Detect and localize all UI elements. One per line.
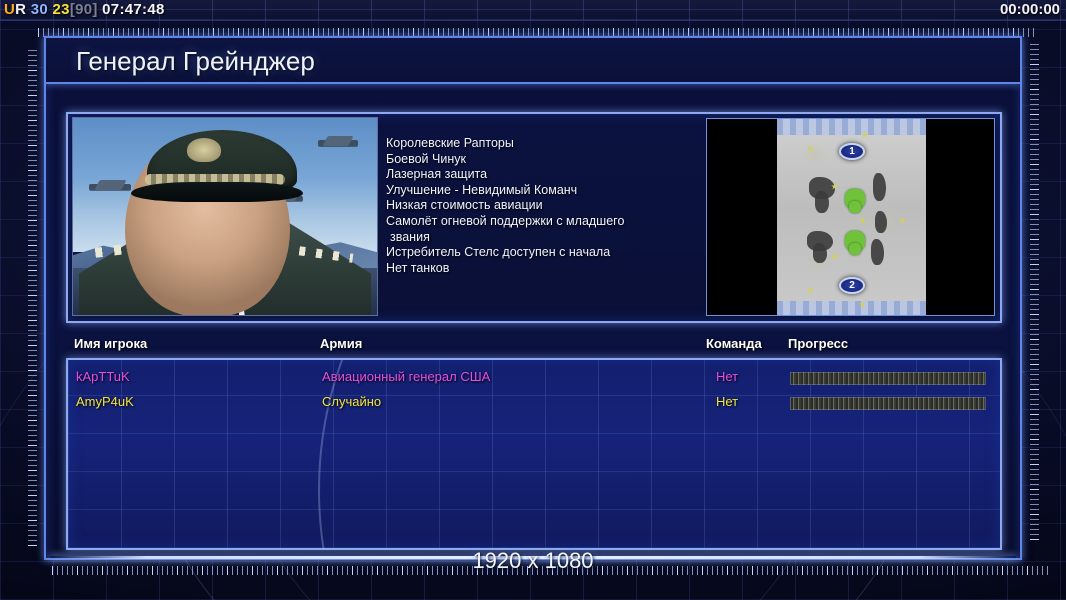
portrait-face — [125, 136, 290, 315]
player-name: kApTTuK — [76, 369, 130, 384]
ability-item-continued: звания — [386, 230, 714, 246]
status-clock: 07:47:48 — [102, 1, 164, 18]
aircraft-icon — [318, 140, 358, 146]
frame-body: U.S. Королевские Рапторы Боевой Чинук Ла… — [46, 86, 1020, 562]
main-frame: Генерал Грейнджер U.S. — [44, 36, 1022, 560]
aircraft-icon — [89, 184, 131, 190]
minimap-rock — [813, 243, 827, 263]
minimap-preview: 1 2 — [706, 118, 995, 316]
ability-item: Лазерная защита — [386, 167, 714, 183]
title-bar: Генерал Грейнджер — [46, 38, 1020, 84]
ability-item: Боевой Чинук — [386, 152, 714, 168]
player-team: Нет — [716, 394, 738, 409]
status-bar: UR 30 23[90] 07:47:48 00:00:00 — [0, 0, 1066, 21]
status-bracket-value: [90] — [70, 1, 98, 18]
minimap-terrain: 1 2 — [777, 119, 926, 316]
ruler-right — [1030, 40, 1039, 540]
ability-item: Нет танков — [386, 261, 714, 277]
ability-item: Самолёт огневой поддержки с младшего — [386, 214, 714, 230]
status-prefix-r: R — [15, 1, 26, 18]
header-army: Армия — [320, 336, 362, 351]
minimap-supply-icon — [859, 217, 866, 224]
minimap-supply-icon — [831, 253, 838, 260]
abilities-list: Королевские Рапторы Боевой Чинук Лазерна… — [386, 136, 714, 276]
status-bar-left-group: UR 30 23[90] 07:47:48 — [4, 1, 165, 18]
ruler-left — [28, 46, 37, 546]
table-row[interactable]: AmyP4uK Случайно Нет — [68, 391, 1000, 416]
header-player-name: Имя игрока — [74, 336, 147, 351]
player-table-headers: Имя игрока Армия Команда Прогресс — [66, 336, 1002, 358]
ability-item: Низкая стоимость авиации — [386, 198, 714, 214]
ability-item: Королевские Рапторы — [386, 136, 714, 152]
minimap-rock — [871, 239, 884, 265]
player-progress-bar — [790, 372, 986, 385]
player-army: Случайно — [322, 394, 381, 409]
cap-badge-icon — [187, 138, 221, 162]
header-team: Команда — [706, 336, 762, 351]
minimap-supply-icon — [807, 287, 814, 294]
minimap-supply-icon — [899, 217, 906, 224]
player-name: AmyP4uK — [76, 394, 134, 409]
player-progress-bar — [790, 397, 986, 410]
player-army: Авиационный генерал США — [322, 369, 490, 384]
cap-brim — [131, 182, 303, 202]
status-timer: 00:00:00 — [1000, 1, 1060, 18]
status-value-2: 23 — [53, 1, 70, 18]
general-info-panel: U.S. Королевские Рапторы Боевой Чинук Ла… — [66, 112, 1002, 323]
player-team: Нет — [716, 369, 738, 384]
header-progress: Прогресс — [788, 336, 848, 351]
ability-item: Истребитель Стелс доступен с начала — [386, 245, 714, 261]
minimap-rock — [873, 173, 886, 201]
minimap-edge-top — [777, 119, 926, 135]
minimap-supply-icon — [807, 145, 814, 152]
minimap-start-position-2: 2 — [839, 277, 865, 294]
general-portrait: U.S. — [73, 118, 377, 315]
page-title: Генерал Грейнджер — [76, 46, 315, 77]
table-row[interactable]: kApTTuK Авиационный генерал США Нет — [68, 366, 1000, 391]
minimap-rock — [875, 211, 887, 233]
minimap-start-position-1: 1 — [839, 143, 865, 160]
minimap-rock — [815, 191, 829, 213]
status-value-1: 30 — [31, 1, 48, 18]
resolution-label: 1920 x 1080 — [0, 548, 1066, 574]
minimap-edge-bottom — [777, 301, 926, 316]
minimap-trees — [849, 243, 861, 255]
status-prefix-u: U — [4, 1, 15, 18]
minimap-trees — [849, 201, 861, 213]
player-table: kApTTuK Авиационный генерал США Нет AmyP… — [66, 358, 1002, 550]
ability-item: Улучшение - Невидимый Команч — [386, 183, 714, 199]
